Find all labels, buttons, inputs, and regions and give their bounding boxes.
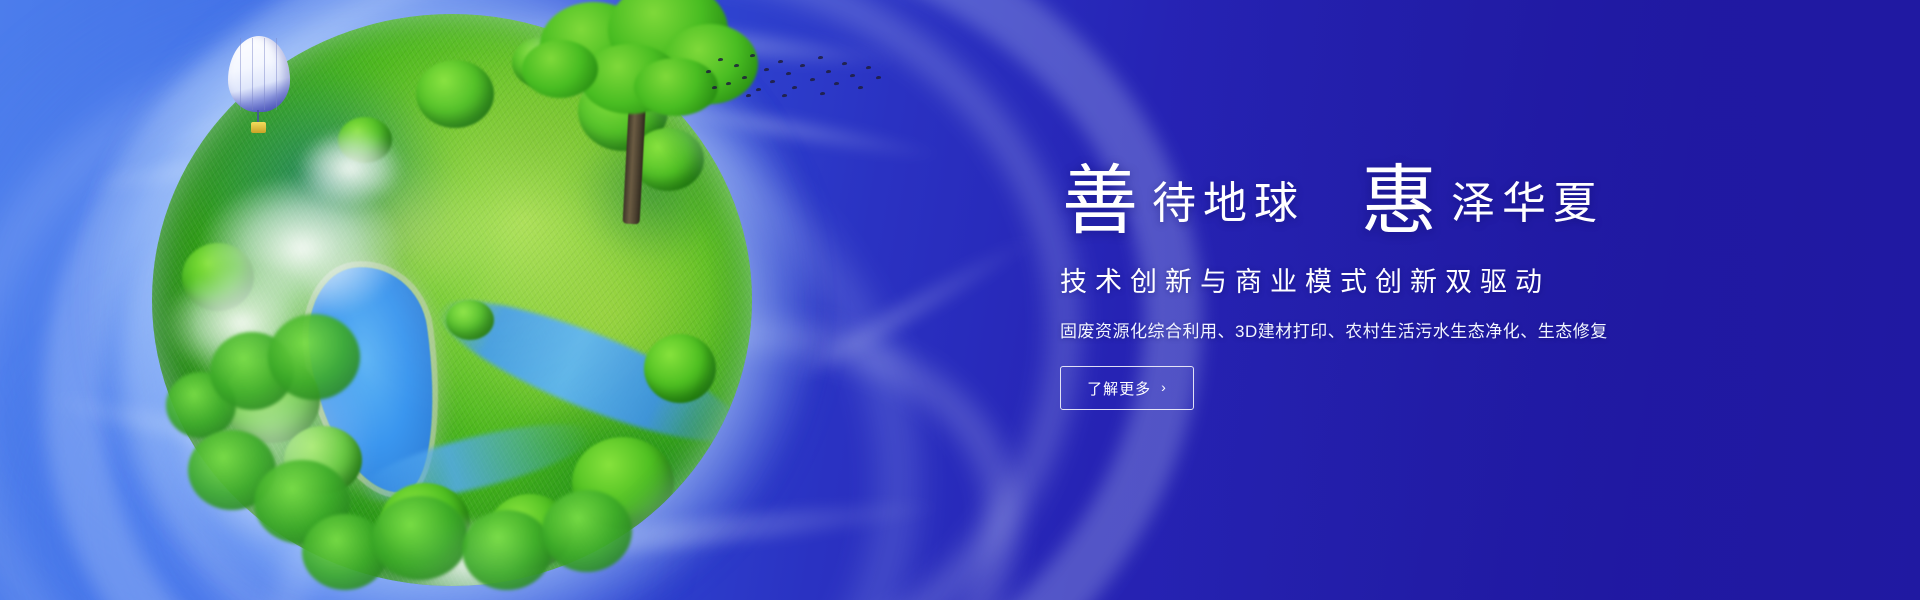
headline-text-small-1: 待地球 [1138, 182, 1305, 226]
tree-canopy [372, 496, 468, 580]
learn-more-button[interactable]: 了解更多 › [1060, 366, 1194, 410]
tree-line-bottom [302, 484, 632, 600]
tree-canopy [462, 510, 552, 590]
tree-canopy [522, 40, 598, 98]
headline-text-small-2: 泽华夏 [1437, 182, 1604, 226]
balloon-seam [252, 38, 253, 110]
headline-group-1: 善 待地球 [1062, 158, 1305, 234]
hero-description: 固废资源化综合利用、3D建材打印、农村生活污水生态净化、生态修复 [1060, 317, 1820, 342]
bird-flock-icon [700, 42, 890, 112]
balloon-envelope [228, 36, 290, 112]
balloon-seam [264, 38, 265, 110]
hero-subtitle: 技术创新与商业模式创新双驱动 [1060, 260, 1820, 299]
balloon-seam [240, 38, 241, 110]
learn-more-label: 了解更多 [1087, 378, 1151, 399]
headline-group-2: 惠 泽华夏 [1361, 158, 1604, 234]
hot-air-balloon-icon [228, 36, 300, 140]
page-title: 善 待地球 惠 泽华夏 [1062, 138, 1820, 234]
balloon-seam [276, 38, 277, 110]
hero-banner: 善 待地球 惠 泽华夏 技术创新与商业模式创新双驱动 固废资源化综合利用、3D建… [0, 0, 1920, 600]
hero-copy: 善 待地球 惠 泽华夏 技术创新与商业模式创新双驱动 固废资源化综合利用、3D建… [1060, 138, 1820, 410]
chevron-right-icon: › [1161, 380, 1167, 394]
headline-char-large-2: 惠 [1361, 164, 1437, 240]
headline-char-large-1: 善 [1062, 164, 1138, 240]
balloon-basket [251, 122, 266, 133]
tree-canopy [268, 314, 360, 400]
tree-canopy [542, 490, 632, 572]
